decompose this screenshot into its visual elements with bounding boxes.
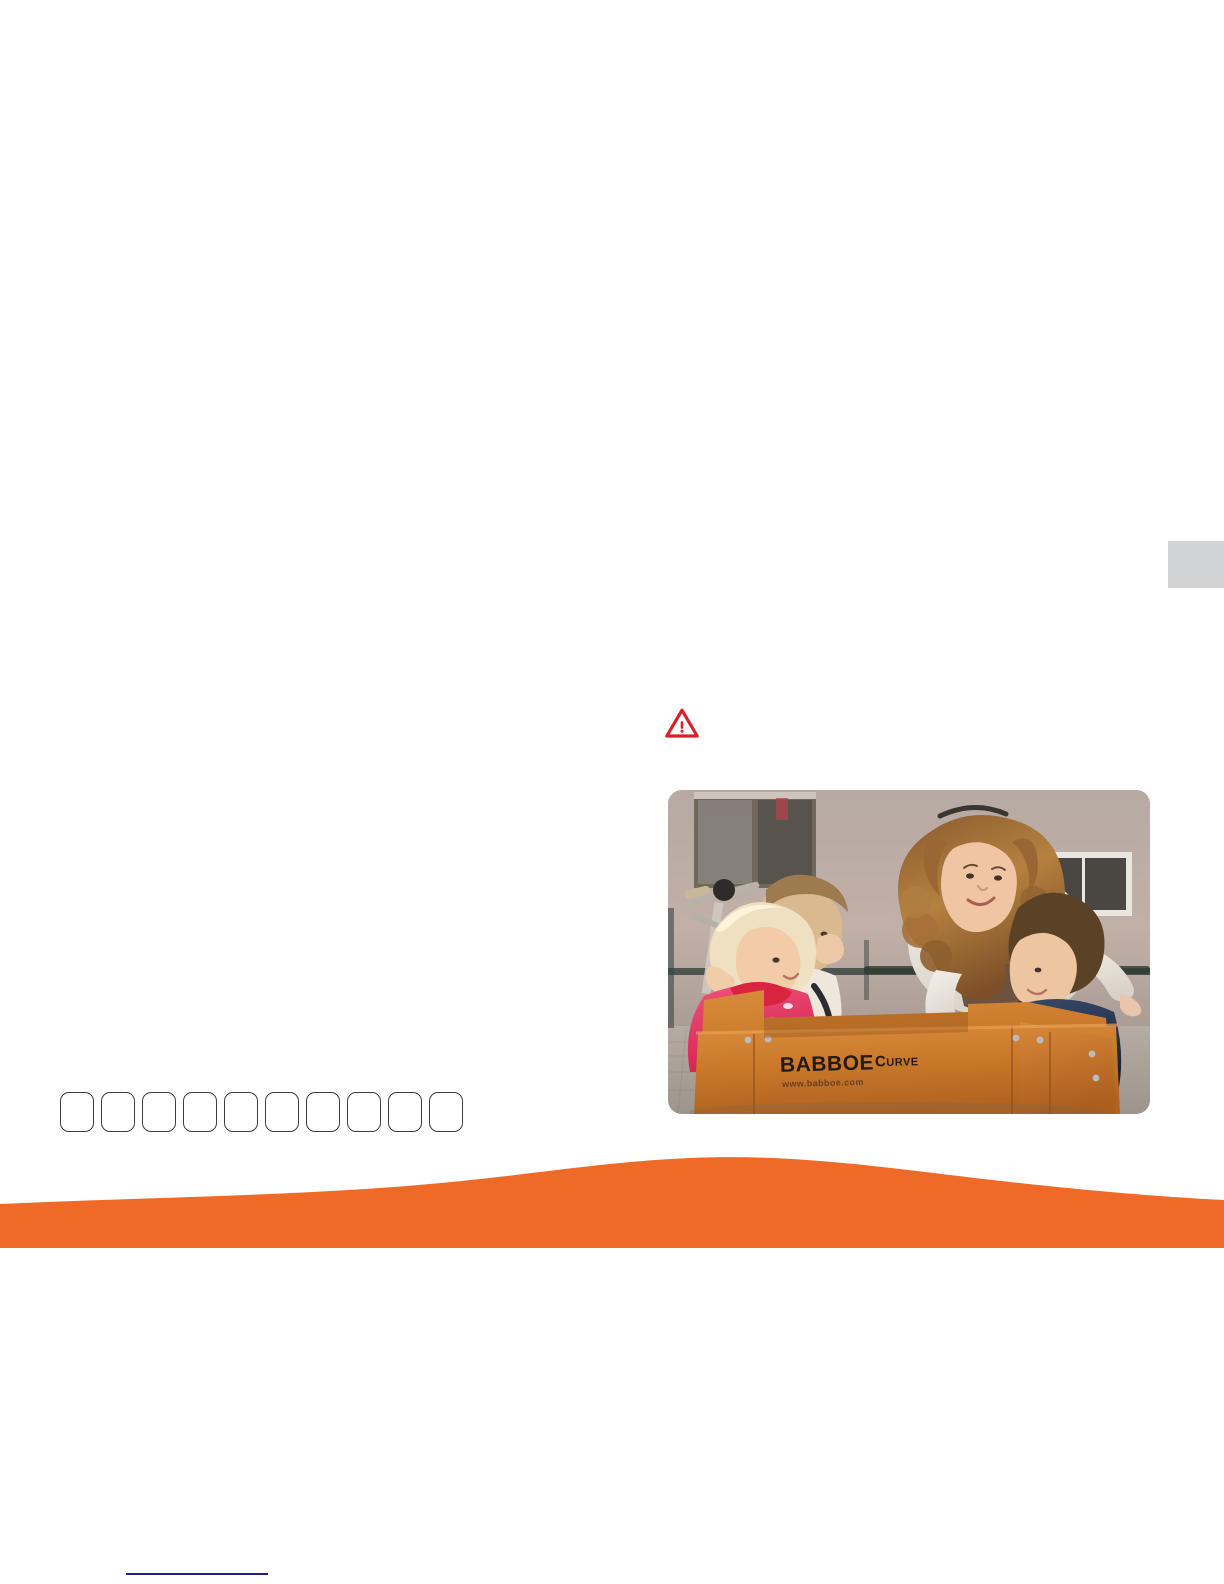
- page-edge-section-tab-label: [1168, 541, 1224, 588]
- icon-box[interactable]: [265, 1092, 299, 1132]
- icon-box[interactable]: [347, 1092, 381, 1132]
- icon-box[interactable]: [224, 1092, 258, 1132]
- footer-rule: [126, 1573, 268, 1575]
- page-edge-section-tab[interactable]: [1168, 541, 1224, 588]
- photo-url-text: www.babboe.com: [782, 1077, 864, 1089]
- icon-box[interactable]: [306, 1092, 340, 1132]
- cargo-bike-photo: BABBOECurve www.babboe.com: [668, 790, 1150, 1114]
- icon-placeholder-strip: [60, 1092, 463, 1132]
- warning-triangle-icon: [665, 708, 699, 738]
- icon-box[interactable]: [60, 1092, 94, 1132]
- icon-box[interactable]: [429, 1092, 463, 1132]
- icon-box[interactable]: [388, 1092, 422, 1132]
- photo-model-name: Curve: [875, 1052, 919, 1070]
- icon-box[interactable]: [142, 1092, 176, 1132]
- orange-wave-footer: [0, 1148, 1224, 1248]
- manual-page: BABBOECurve www.babboe.com: [0, 0, 1224, 1584]
- photo-brand-text: BABBOECurve: [780, 1050, 919, 1078]
- icon-box[interactable]: [101, 1092, 135, 1132]
- icon-box[interactable]: [183, 1092, 217, 1132]
- photo-brand-name: BABBOE: [780, 1051, 875, 1076]
